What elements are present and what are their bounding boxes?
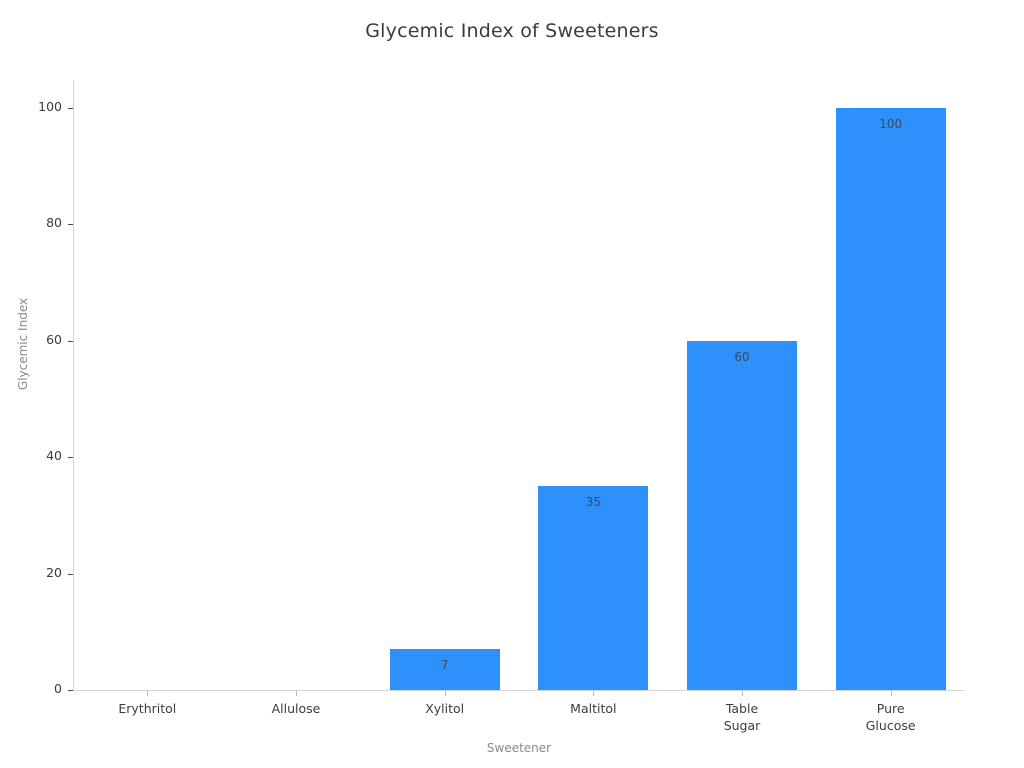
- x-tick-label: Table Sugar: [668, 700, 817, 734]
- bar-value-label: 35: [538, 495, 648, 509]
- x-tick-mark: [445, 691, 446, 696]
- chart-title: Glycemic Index of Sweeteners: [0, 20, 1024, 42]
- x-axis-label: Sweetener: [73, 741, 965, 755]
- x-tick-label: Pure Glucose: [816, 700, 965, 734]
- bar[interactable]: [836, 108, 946, 690]
- y-tick-mark: [68, 457, 73, 458]
- x-tick-label: Maltitol: [519, 700, 668, 717]
- y-tick-label: 60: [14, 332, 62, 347]
- x-tick-mark: [147, 691, 148, 696]
- bar[interactable]: [687, 341, 797, 690]
- bar-value-label: 60: [687, 350, 797, 364]
- bar-value-label: 100: [836, 117, 946, 131]
- x-tick-mark: [593, 691, 594, 696]
- y-tick-mark: [68, 690, 73, 691]
- y-tick-mark: [68, 574, 73, 575]
- bar-value-label: 7: [390, 658, 500, 672]
- x-axis-spine: [73, 690, 965, 691]
- y-tick-label: 80: [14, 215, 62, 230]
- x-tick-label: Allulose: [222, 700, 371, 717]
- y-tick-label: 100: [14, 99, 62, 114]
- y-tick-label: 40: [14, 448, 62, 463]
- x-tick-label: Xylitol: [370, 700, 519, 717]
- x-tick-mark: [891, 691, 892, 696]
- y-tick-mark: [68, 108, 73, 109]
- y-tick-mark: [68, 224, 73, 225]
- y-axis-spine: [73, 80, 74, 690]
- x-tick-label: Erythritol: [73, 700, 222, 717]
- y-tick-label: 0: [14, 681, 62, 696]
- y-tick-label: 20: [14, 565, 62, 580]
- x-tick-mark: [742, 691, 743, 696]
- x-tick-mark: [296, 691, 297, 696]
- chart-figure: Glycemic Index of Sweeteners Glycemic In…: [0, 0, 1024, 768]
- y-tick-mark: [68, 341, 73, 342]
- bar[interactable]: [538, 486, 648, 690]
